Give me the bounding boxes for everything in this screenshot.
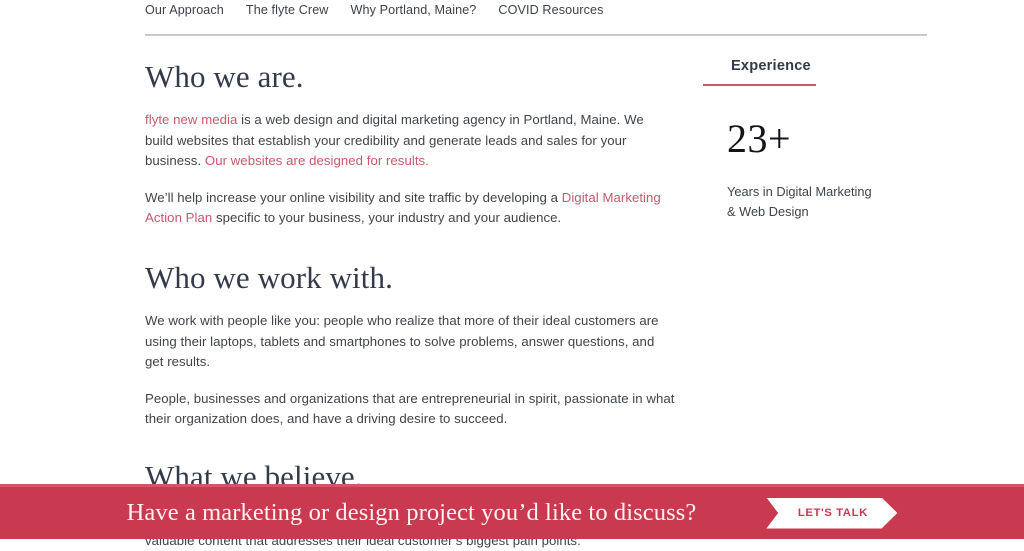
experience-accent-rule	[703, 84, 816, 86]
experience-caption-line-1: Years in Digital Marketing	[727, 184, 872, 199]
paragraph-who-we-work-with-2: People, businesses and organizations tha…	[145, 389, 675, 430]
inline-link-2[interactable]: Our websites are designed for results.	[205, 153, 429, 168]
page-title-who-we-work-with: Who we work with.	[145, 259, 675, 297]
experience-caption-line-2: & Web Design	[727, 204, 809, 219]
paragraph-who-we-are-2: We’ll help increase your online visibili…	[145, 188, 675, 229]
nav-link-why-portland-maine[interactable]: Why Portland, Maine?	[351, 2, 477, 18]
lets-talk-button-label: LET'S TALK	[766, 498, 897, 529]
experience-title: Experience	[731, 58, 811, 74]
lets-talk-button[interactable]: LET'S TALK	[766, 498, 897, 529]
section-who-we-are: Who we are. flyte new media is a web des…	[145, 58, 675, 229]
main-content: Who we are. flyte new media is a web des…	[145, 58, 675, 551]
paragraph-who-we-work-with-1: We work with people like you: people who…	[145, 311, 675, 373]
experience-caption: Years in Digital Marketing & Web Design	[727, 182, 933, 222]
nav-link-covid-resources[interactable]: COVID Resources	[498, 2, 603, 18]
nav-link-our-approach[interactable]: Our Approach	[145, 2, 224, 18]
sidebar: Experience 23+ Years in Digital Marketin…	[703, 58, 933, 222]
page-title-who-we-are: Who we are.	[145, 58, 675, 96]
cta-message: Have a marketing or design project you’d…	[127, 498, 697, 528]
cta-banner: Have a marketing or design project you’d…	[0, 484, 1024, 539]
nav-link-the-flyte-crew[interactable]: The flyte Crew	[246, 2, 329, 18]
primary-navigation: Our Approach The flyte Crew Why Portland…	[145, 0, 927, 36]
paragraph-who-we-are-1: flyte new media is a web design and digi…	[145, 110, 675, 172]
experience-years-value: 23+	[727, 116, 933, 162]
inline-link-0[interactable]: flyte new media	[145, 112, 237, 127]
section-who-we-work-with: Who we work with. We work with people li…	[145, 259, 675, 430]
inline-link-1[interactable]: Digital Marketing Action Plan	[145, 190, 661, 226]
experience-widget-header: Experience	[703, 58, 933, 88]
